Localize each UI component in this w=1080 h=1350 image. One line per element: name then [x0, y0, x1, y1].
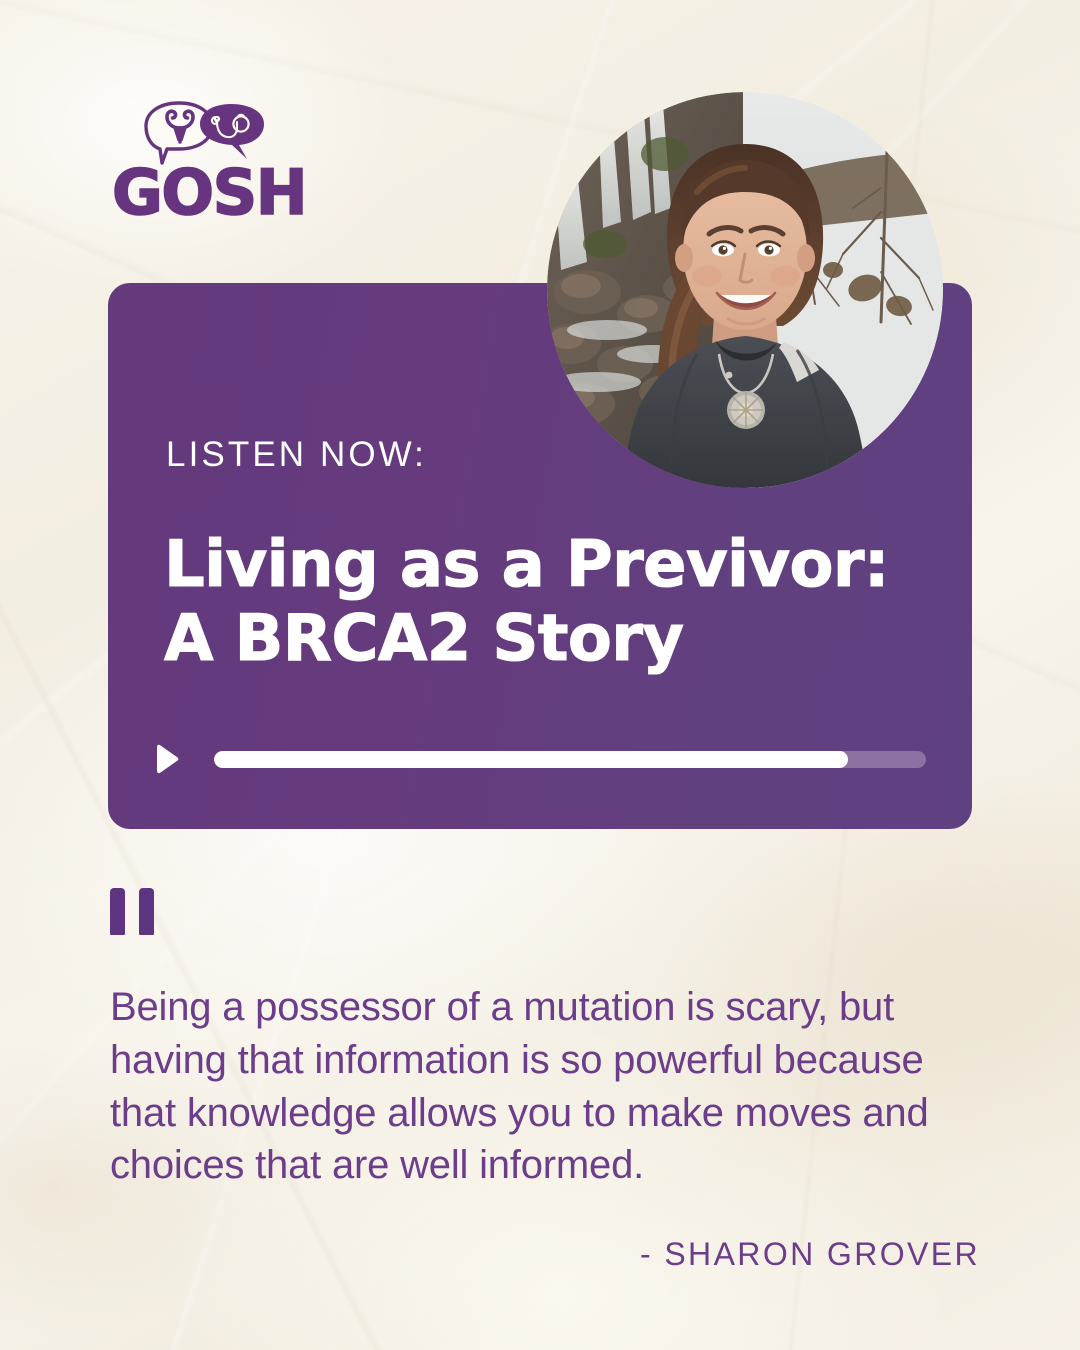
audio-player[interactable] [154, 738, 926, 780]
episode-title: Living as a Previvor: A BRCA2 Story [164, 528, 924, 676]
quote-text: Being a possessor of a mutation is scary… [110, 981, 980, 1192]
guest-portrait-avatar [547, 92, 943, 488]
gosh-logo: GOSH [112, 100, 352, 225]
quotation-mark-icon [110, 888, 980, 935]
progress-bar-track[interactable] [214, 751, 926, 768]
quote-bar-left [110, 888, 125, 935]
quote-line-2: having that information is so powerful b… [110, 1034, 980, 1087]
episode-title-line-2: A BRCA2 Story [164, 602, 924, 676]
play-triangle-icon [154, 744, 180, 774]
play-button[interactable] [154, 738, 194, 780]
gosh-wordmark: GOSH [112, 162, 306, 224]
progress-bar-fill [214, 751, 848, 768]
quote-line-3: that knowledge allows you to make moves … [110, 1087, 980, 1140]
listen-now-eyebrow: LISTEN NOW: [166, 435, 427, 475]
episode-title-line-1: Living as a Previvor: [164, 528, 924, 602]
quote-attribution: - SHARON GROVER [110, 1236, 980, 1273]
quote-bar-right [139, 888, 154, 935]
quote-line-4: choices that are well informed. [110, 1139, 980, 1192]
quote-line-1: Being a possessor of a mutation is scary… [110, 981, 980, 1034]
quote-block: Being a possessor of a mutation is scary… [110, 888, 980, 1273]
